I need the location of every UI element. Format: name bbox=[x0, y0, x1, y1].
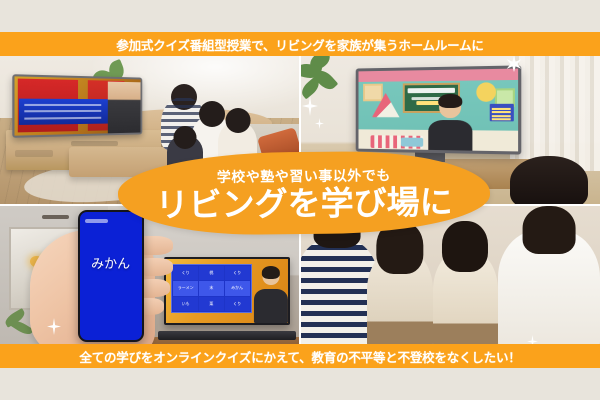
ceiling-lamp bbox=[42, 215, 69, 219]
quiz-cell: みかん bbox=[225, 281, 250, 295]
viewer-head bbox=[510, 156, 588, 204]
family-member bbox=[433, 251, 499, 349]
bottom-banner-text: 全ての学びをオンラインクイズにかえて、教育の不平等と不登校をなくしたい！ bbox=[79, 347, 520, 366]
television-large bbox=[356, 65, 522, 155]
curtain bbox=[510, 55, 600, 171]
tv-host bbox=[255, 268, 287, 322]
top-margin bbox=[0, 0, 600, 32]
family-member bbox=[498, 230, 600, 349]
tv-host bbox=[429, 95, 471, 151]
quiz-cell: 末 bbox=[199, 281, 224, 295]
quiz-cell: くり bbox=[225, 266, 250, 280]
plant-icon bbox=[301, 55, 343, 121]
promo-banner-image: くり 桃 くり ラーメン 末 みかん いも 栗 くり bbox=[0, 0, 600, 400]
headline-title: リビングを学び場に bbox=[155, 185, 452, 221]
tv-host bbox=[108, 82, 140, 133]
headline-blob: 学校や塾や習い事以外でも リビングを学び場に bbox=[118, 150, 491, 236]
top-banner-text: 参加式クイズ番組型授業で、リビングを家族が集うホームルームに bbox=[116, 35, 483, 54]
handwritten-answer: みかん bbox=[82, 258, 139, 271]
television bbox=[12, 74, 142, 137]
soundbar bbox=[158, 331, 296, 340]
bottom-margin bbox=[0, 368, 600, 400]
quiz-answer-grid: くり 桃 くり ラーメン 末 みかん いも 栗 くり bbox=[171, 264, 251, 313]
family-member bbox=[367, 251, 433, 349]
television: くり 桃 くり ラーメン 末 みかん いも 栗 くり bbox=[164, 257, 290, 326]
tv-screen-quiz-grid: くり 桃 くり ラーメン 末 みかん いも 栗 くり bbox=[166, 259, 288, 324]
quiz-cell: くり bbox=[173, 266, 198, 280]
quiz-cell: ラーメン bbox=[173, 281, 198, 295]
tv-screen-quiz bbox=[14, 76, 140, 135]
tv-screen-living-school bbox=[358, 68, 518, 151]
quiz-cell: いも bbox=[173, 297, 198, 311]
bottom-banner: 全ての学びをオンラインクイズにかえて、教育の不平等と不登校をなくしたい！ bbox=[0, 344, 600, 368]
quiz-cell: 栗 bbox=[199, 297, 224, 311]
status-bar bbox=[85, 219, 108, 223]
quiz-cell: くり bbox=[225, 297, 250, 311]
quiz-cell: 桃 bbox=[199, 266, 224, 280]
top-banner: 参加式クイズ番組型授業で、リビングを家族が集うホームルームに bbox=[0, 32, 600, 56]
